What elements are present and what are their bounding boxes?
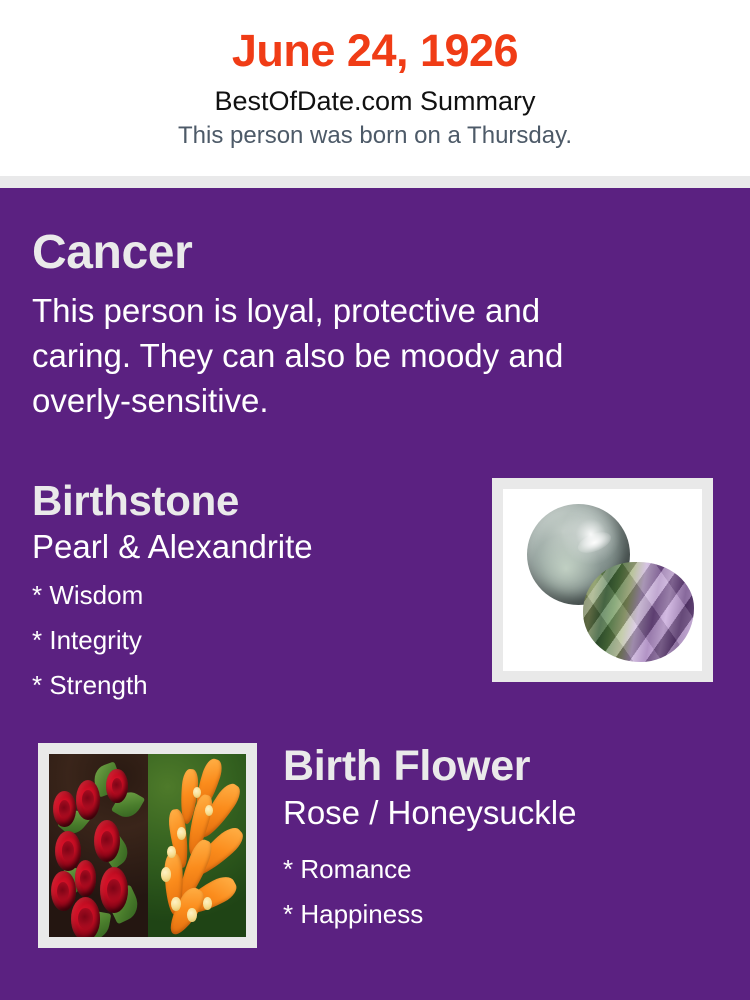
summary-card: June 24, 1926 BestOfDate.com Summary Thi… <box>0 0 750 1000</box>
list-item: * Integrity <box>32 618 472 663</box>
birth-flower-section: Birth Flower Rose / Honeysuckle * Romanc… <box>283 740 713 937</box>
birthstone-title: Birthstone <box>32 476 472 526</box>
birth-flower-image-frame <box>38 743 257 948</box>
alexandrite-gem-icon <box>583 562 694 662</box>
birthstone-names: Pearl & Alexandrite <box>32 526 472 567</box>
content-panel: Cancer This person is loyal, protective … <box>0 188 750 1000</box>
birthstone-image-frame <box>492 478 713 682</box>
list-item: * Wisdom <box>32 573 472 618</box>
weekday-note: This person was born on a Thursday. <box>0 118 750 151</box>
birth-flower-trait-list: * Romance * Happiness <box>283 833 713 937</box>
list-item: * Strength <box>32 663 472 708</box>
birth-flower-image <box>49 754 246 937</box>
header: June 24, 1926 BestOfDate.com Summary Thi… <box>0 0 750 176</box>
birthstone-section: Birthstone Pearl & Alexandrite * Wisdom … <box>32 476 472 708</box>
zodiac-sign-title: Cancer <box>32 224 672 282</box>
list-item: * Romance <box>283 847 713 892</box>
roses-photo-half <box>49 754 148 937</box>
gem-facets <box>583 562 694 662</box>
honeysuckle-photo-half <box>148 754 247 937</box>
zodiac-section: Cancer This person is loyal, protective … <box>32 224 672 423</box>
zodiac-description: This person is loyal, protective and car… <box>32 282 632 423</box>
divider <box>0 176 750 188</box>
birth-flower-names: Rose / Honeysuckle <box>283 792 713 833</box>
page-title-date: June 24, 1926 <box>0 0 750 78</box>
list-item: * Happiness <box>283 892 713 937</box>
birth-flower-title: Birth Flower <box>283 740 713 792</box>
pearl-highlight <box>575 528 614 557</box>
birthstone-trait-list: * Wisdom * Integrity * Strength <box>32 567 472 708</box>
birthstone-image <box>503 489 702 671</box>
site-name: BestOfDate.com Summary <box>0 78 750 118</box>
